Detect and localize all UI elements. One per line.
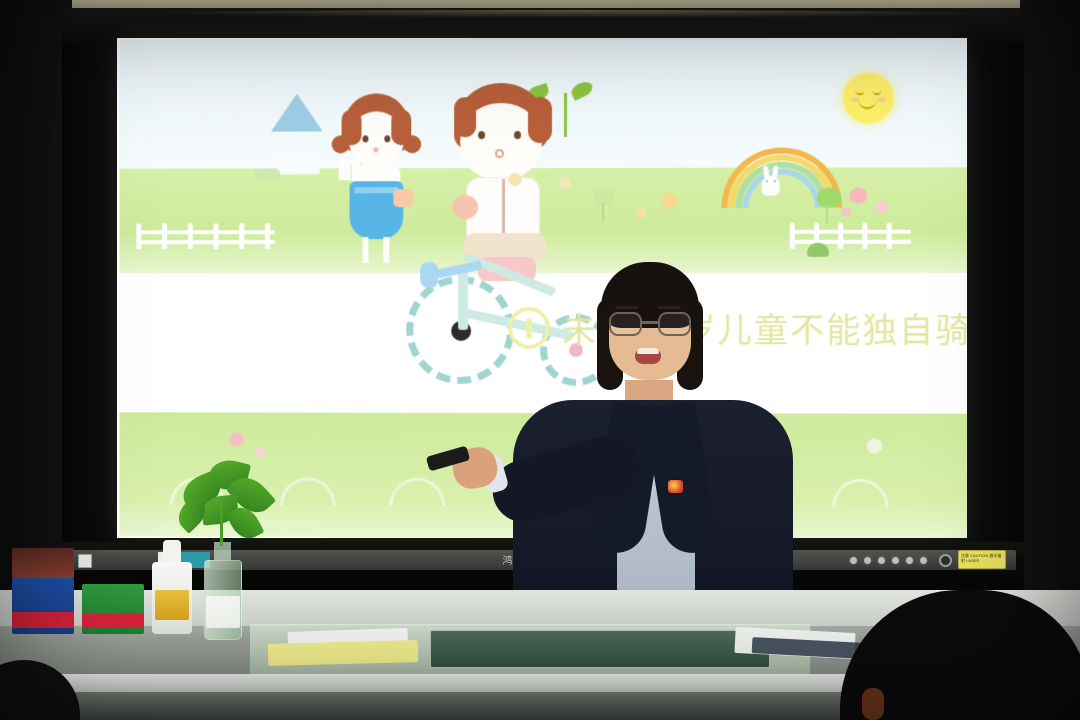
student-ear: [862, 688, 884, 720]
house-body-blue: [276, 148, 320, 174]
flower-icon: [866, 439, 882, 454]
control-button[interactable]: [892, 557, 899, 564]
control-button[interactable]: [920, 557, 927, 564]
wall-right: [1020, 0, 1080, 600]
tree-icon-small: [593, 188, 615, 222]
eyebrow-left: [615, 306, 639, 309]
spec-label: [78, 554, 92, 568]
flower-icon: [229, 432, 244, 446]
eyebrow-right: [657, 306, 681, 309]
flower-icon: [841, 208, 851, 217]
flower-icon: [508, 173, 522, 186]
control-button[interactable]: [906, 557, 913, 564]
tissue-box-blue-top: [12, 548, 74, 578]
teeth: [637, 348, 659, 354]
tissue-box-green-band: [82, 614, 144, 628]
rabbit-icon: [759, 165, 781, 195]
desk-recessed-panel: [430, 630, 770, 668]
party-emblem-pin: [668, 480, 683, 493]
laser-caution-label: 注意 CAUTION 激光辐射 LASER: [958, 550, 1006, 569]
sanitizer-label: [155, 590, 189, 620]
bush-icon: [806, 243, 828, 257]
flower-icon: [661, 193, 677, 209]
whiteboard-control-buttons[interactable]: [850, 554, 952, 567]
fence-icon-right: [789, 223, 910, 249]
flower-icon: [636, 208, 646, 218]
control-button[interactable]: [850, 557, 857, 564]
classroom-scene: 未满12岁儿童不能独自骑车 鸿合 HiteVision 注意 CAUTION 激…: [0, 0, 1080, 720]
power-knob[interactable]: [939, 554, 952, 567]
tissue-box-blue-band: [12, 612, 74, 628]
flower-icon: [254, 447, 265, 457]
control-button[interactable]: [864, 557, 871, 564]
bottle-label: [206, 596, 240, 628]
control-button[interactable]: [878, 557, 885, 564]
fence-icon-left: [136, 223, 275, 249]
shrub-icon: [254, 168, 280, 179]
tree-icon: [815, 188, 841, 224]
yellow-papers[interactable]: [268, 640, 419, 666]
flower-icon: [559, 178, 571, 189]
flower-icon: [849, 188, 867, 204]
house-roof-blue: [271, 94, 323, 132]
flower-icon: [875, 200, 888, 212]
pothos-plant: [176, 458, 276, 548]
glasses-icon: [609, 312, 691, 336]
sun-icon: [832, 62, 905, 135]
